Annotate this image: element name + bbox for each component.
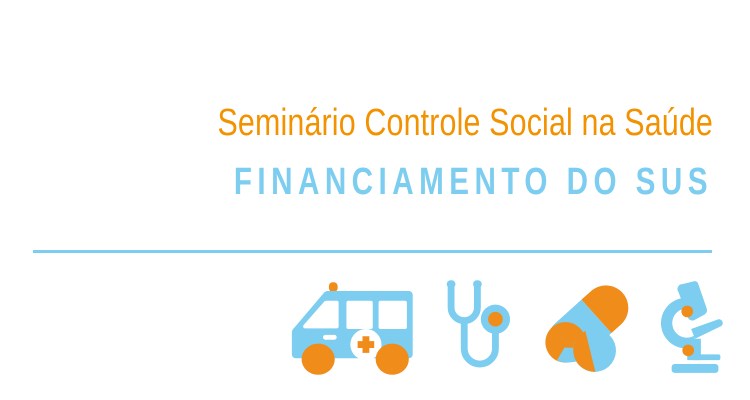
icon-row bbox=[286, 272, 726, 377]
headline-block: Seminário Controle Social na Saúde FINAN… bbox=[33, 100, 713, 204]
divider-rule bbox=[33, 250, 712, 253]
stethoscope-icon bbox=[435, 277, 525, 377]
ambulance-icon bbox=[286, 281, 415, 377]
page-subtitle: FINANCIAMENTO DO SUS bbox=[183, 160, 713, 204]
microscope-icon bbox=[658, 279, 726, 377]
page-title: Seminário Controle Social na Saúde bbox=[169, 100, 713, 146]
pills-icon bbox=[538, 281, 635, 377]
event-banner: Seminário Controle Social na Saúde FINAN… bbox=[0, 0, 750, 400]
